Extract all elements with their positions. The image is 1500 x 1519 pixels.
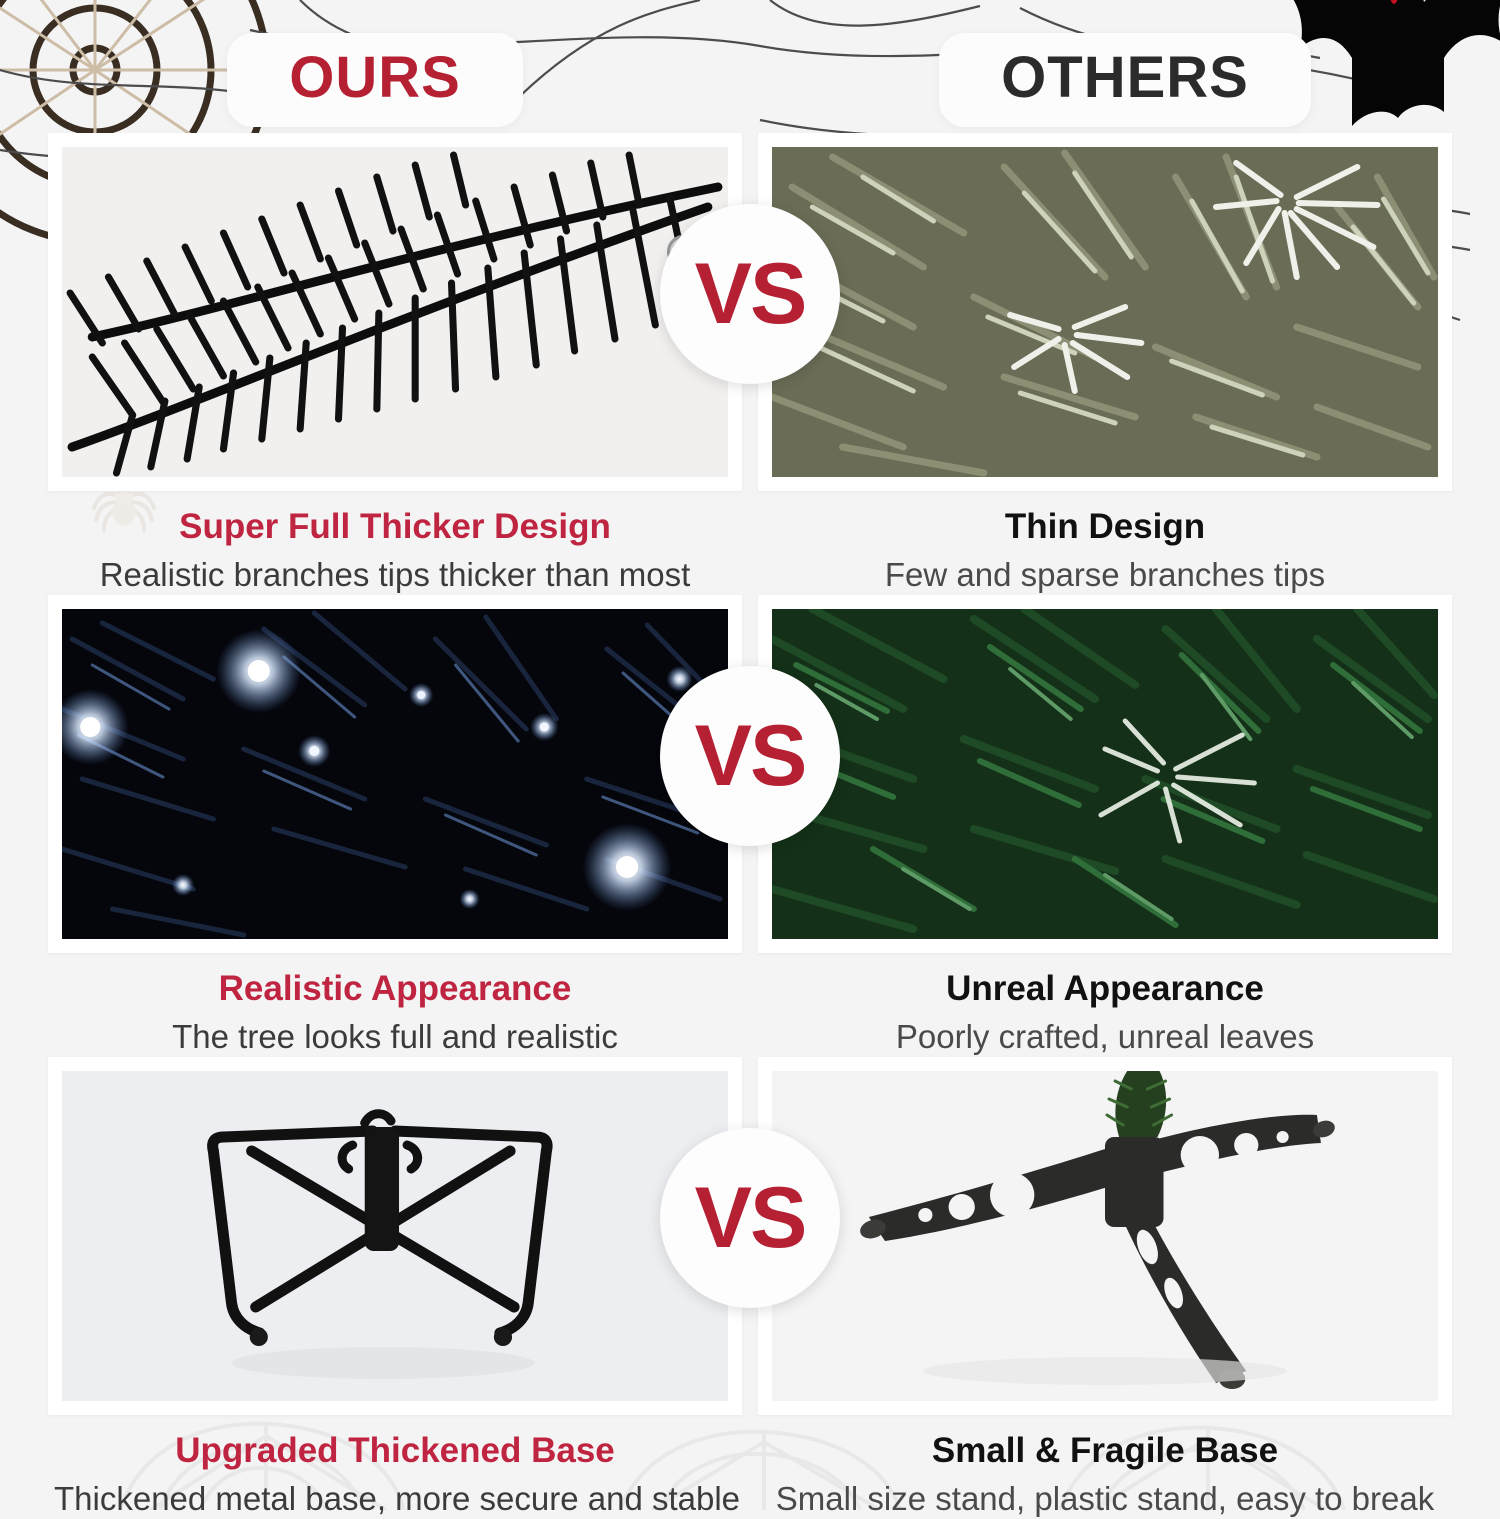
vs-label-1: VS [695, 251, 806, 337]
ours-caption-2: Realistic Appearance The tree looks full… [48, 953, 742, 1057]
others-cell-1: Thin Design Few and sparse branches tips [750, 133, 1500, 595]
header-row: OURS OTHERS [0, 0, 1500, 133]
others-caption-1: Thin Design Few and sparse branches tips [758, 491, 1452, 595]
others-title-3: Small & Fragile Base [764, 1431, 1446, 1471]
ours-cell-2: Realistic Appearance The tree looks full… [0, 595, 750, 1057]
ours-pill: OURS [227, 33, 523, 127]
vs-badge-3: VS [660, 1128, 840, 1308]
ours-card-2 [48, 595, 742, 953]
ours-title-1: Super Full Thicker Design [54, 507, 736, 547]
sparse-olive-needles-photo [772, 147, 1438, 477]
vs-label-3: VS [695, 1175, 806, 1261]
others-card-2 [758, 595, 1452, 953]
others-card-1 [758, 133, 1452, 491]
comparison-row-2: Realistic Appearance The tree looks full… [0, 595, 1500, 1057]
others-card-3 [758, 1057, 1452, 1415]
others-subtitle-3: Small size stand, plastic stand, easy to… [764, 1479, 1446, 1519]
ours-subtitle-2: The tree looks full and realistic [54, 1017, 736, 1057]
others-cell-3: Small & Fragile Base Small size stand, p… [750, 1057, 1500, 1519]
small-plastic-tripod-stand-photo [772, 1071, 1438, 1401]
ours-caption-1: Super Full Thicker Design Realistic bran… [48, 491, 742, 595]
comparison-row-3: Upgraded Thickened Base Thickened metal … [0, 1057, 1500, 1519]
black-pine-branch-thick-photo [62, 147, 728, 477]
ours-card-1 [48, 133, 742, 491]
ours-title-3: Upgraded Thickened Base [54, 1431, 736, 1471]
header-col-others: OTHERS [750, 0, 1500, 133]
vs-badge-1: VS [660, 204, 840, 384]
header-col-ours: OURS [0, 0, 750, 133]
ours-caption-3: Upgraded Thickened Base Thickened metal … [48, 1415, 742, 1519]
vs-label-2: VS [695, 713, 806, 799]
vs-badge-2: VS [660, 666, 840, 846]
ours-cell-3: Upgraded Thickened Base Thickened metal … [0, 1057, 750, 1519]
black-tree-with-white-lights-photo [62, 609, 728, 939]
others-title-1: Thin Design [764, 507, 1446, 547]
ours-card-3 [48, 1057, 742, 1415]
dark-green-plastic-foliage-photo [772, 609, 1438, 939]
ours-title-2: Realistic Appearance [54, 969, 736, 1009]
others-caption-2: Unreal Appearance Poorly crafted, unreal… [758, 953, 1452, 1057]
others-title-2: Unreal Appearance [764, 969, 1446, 1009]
others-subtitle-1: Few and sparse branches tips [764, 555, 1446, 595]
comparison-row-1: Super Full Thicker Design Realistic bran… [0, 133, 1500, 595]
ours-subtitle-1: Realistic branches tips thicker than mos… [54, 555, 736, 595]
comparison-grid: Super Full Thicker Design Realistic bran… [0, 133, 1500, 1500]
others-cell-2: Unreal Appearance Poorly crafted, unreal… [750, 595, 1500, 1057]
others-caption-3: Small & Fragile Base Small size stand, p… [758, 1415, 1452, 1519]
ours-subtitle-3: Thickened metal base, more secure and st… [54, 1479, 736, 1519]
others-subtitle-2: Poorly crafted, unreal leaves [764, 1017, 1446, 1057]
ours-label: OURS [289, 49, 461, 107]
ours-cell-1: Super Full Thicker Design Realistic bran… [0, 133, 750, 595]
others-pill: OTHERS [939, 33, 1311, 127]
others-label: OTHERS [1001, 49, 1249, 107]
black-metal-cross-stand-photo [62, 1071, 728, 1401]
